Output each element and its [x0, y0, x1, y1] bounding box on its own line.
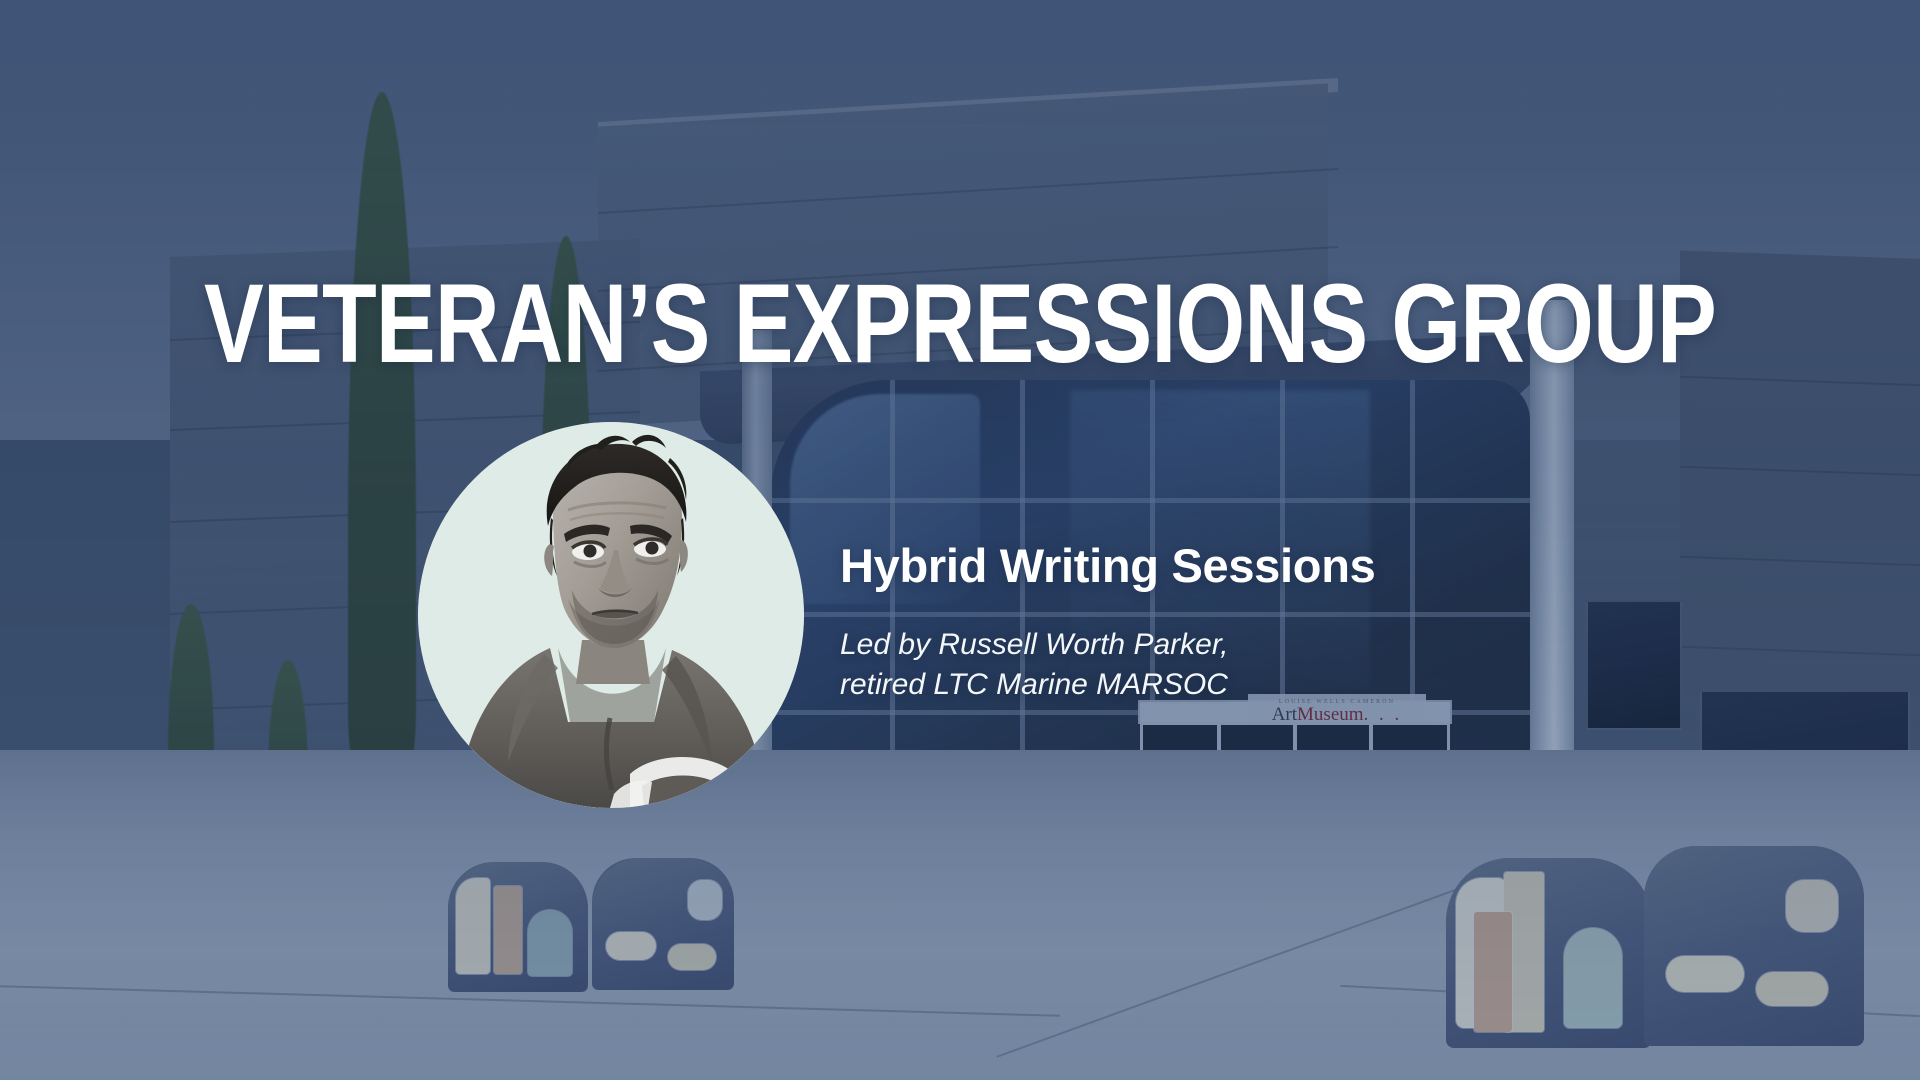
poster-canvas: LOUISE WELLS CAMERON ArtMuseum. . . [0, 0, 1920, 1080]
session-title: Hybrid Writing Sessions [840, 540, 1375, 592]
presenter-credit-line1: Led by Russell Worth Parker, [840, 625, 1229, 665]
page-title: VETERAN’S EXPRESSIONS GROUP [192, 268, 1728, 380]
poster-content: VETERAN’S EXPRESSIONS GROUP [0, 0, 1920, 1080]
avatar [418, 422, 804, 808]
presenter-credit: Led by Russell Worth Parker, retired LTC… [840, 625, 1229, 704]
presenter-credit-line2: retired LTC Marine MARSOC [840, 665, 1229, 705]
